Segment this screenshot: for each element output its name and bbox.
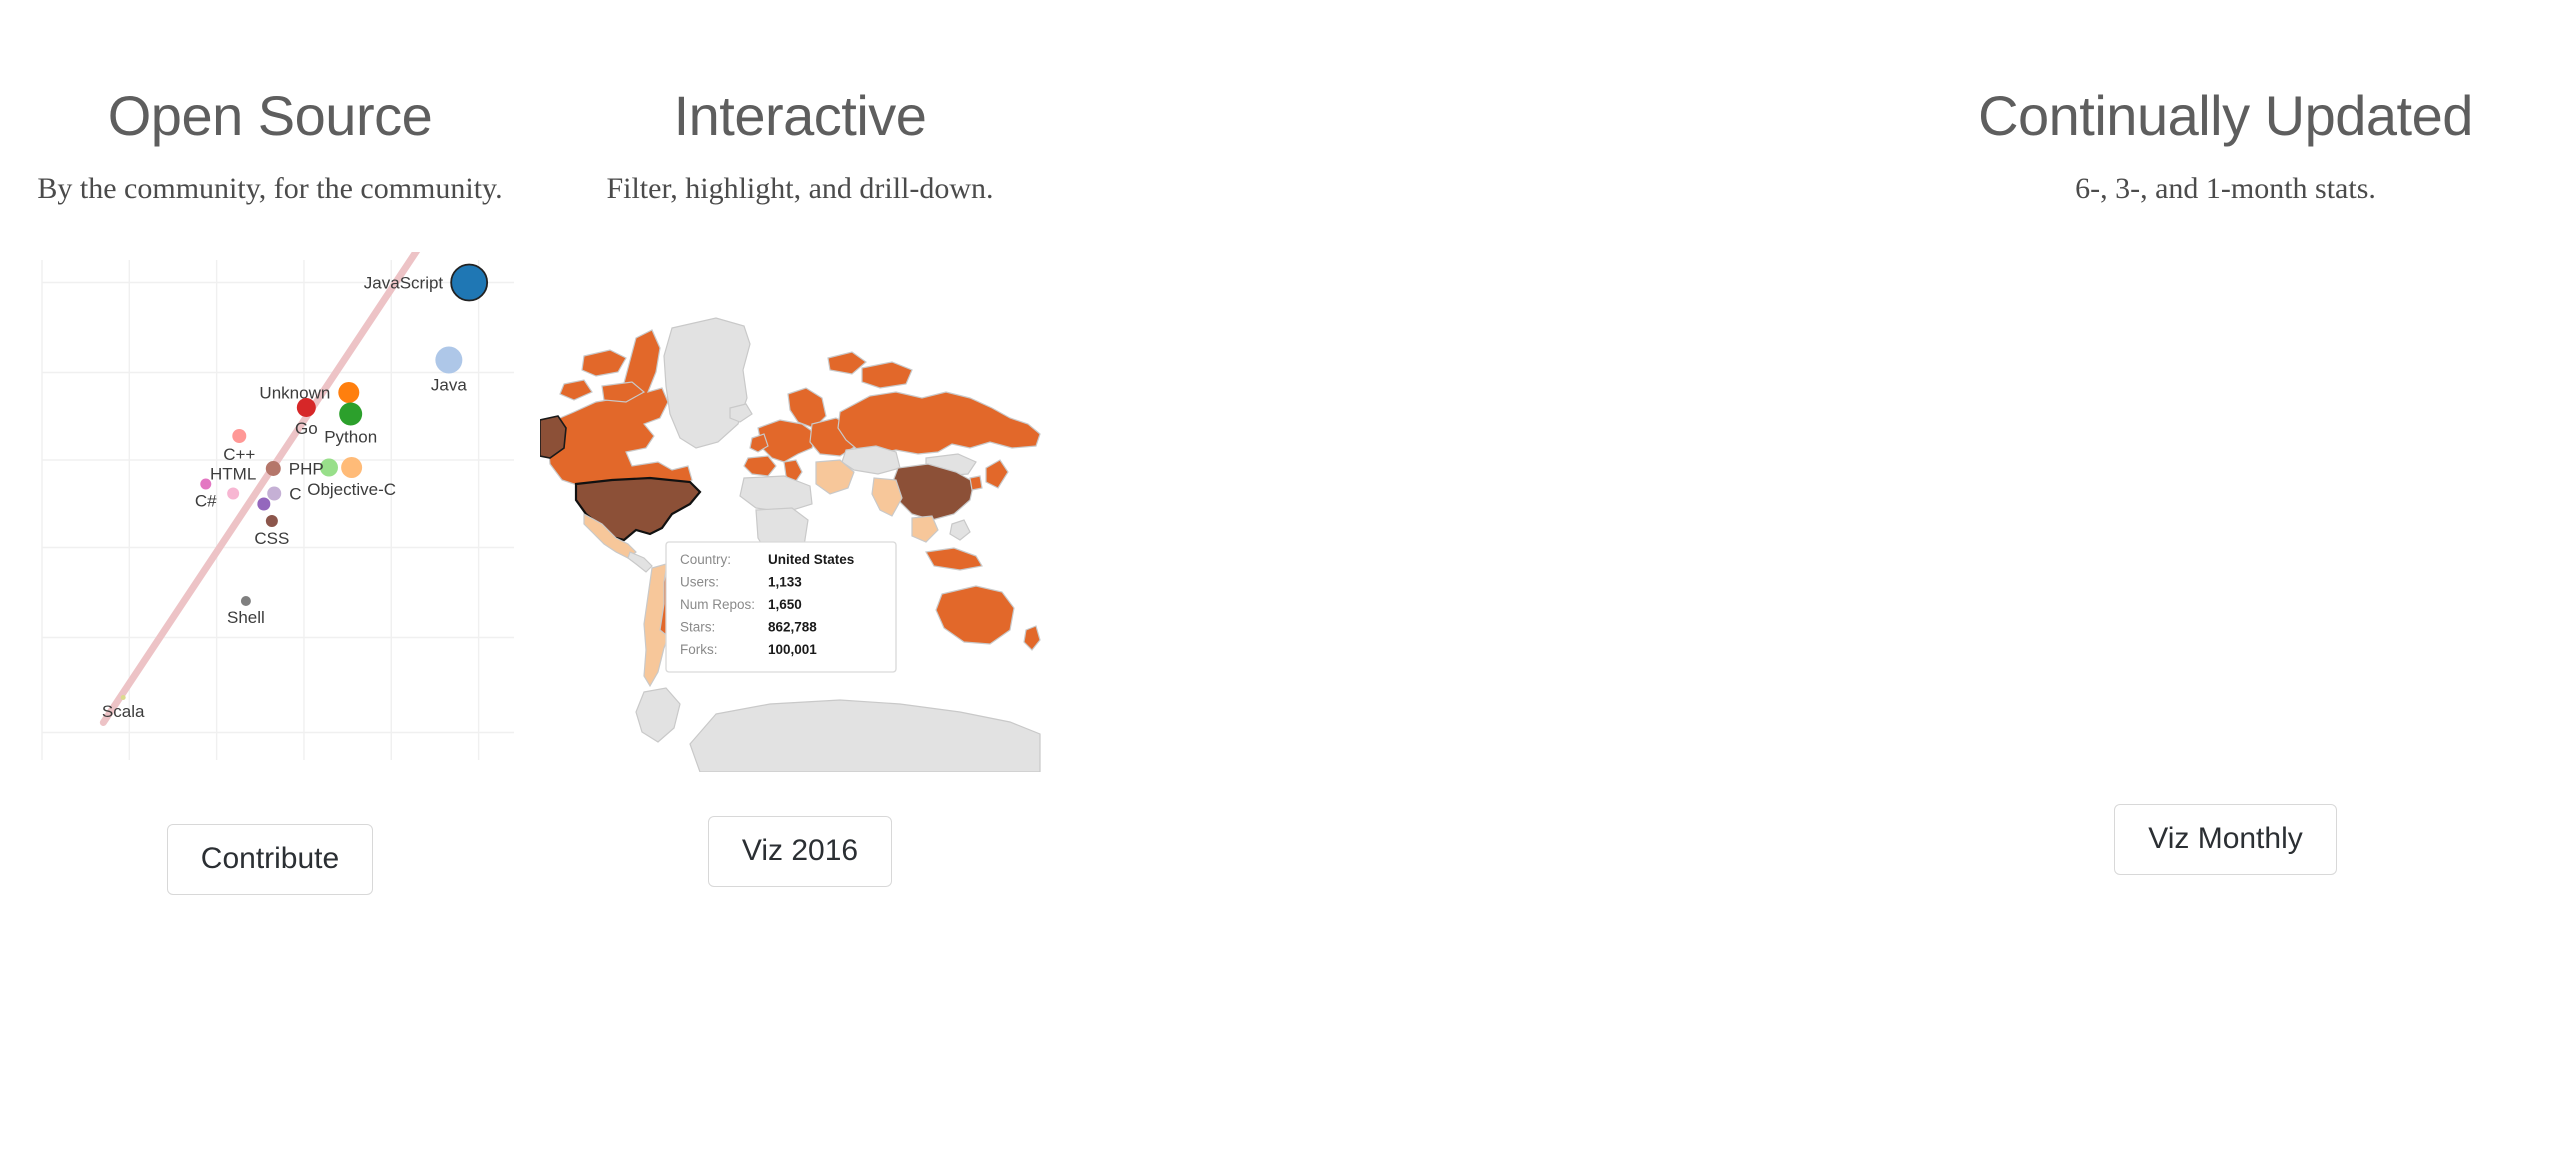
feature-panels: Open Source By the community, for the co… bbox=[0, 0, 2556, 895]
scatter-point-javascript[interactable]: JavaScript bbox=[364, 265, 487, 301]
panel-subtitle: Filter, highlight, and drill-down. bbox=[606, 144, 993, 206]
page-root: Open Source By the community, for the co… bbox=[0, 0, 2556, 1160]
tooltip-row-value: 1,133 bbox=[768, 575, 802, 590]
tooltip-row-label: Num Repos: bbox=[680, 597, 755, 612]
point-label: C bbox=[289, 485, 301, 504]
scatter-point-unlabeled-12[interactable] bbox=[257, 498, 270, 511]
bubble[interactable] bbox=[451, 265, 487, 301]
panel-interactive: Interactive Filter, highlight, and drill… bbox=[540, 88, 1060, 895]
contribute-button[interactable]: Contribute bbox=[167, 824, 373, 895]
viz-monthly-button-row: Viz Monthly bbox=[1060, 804, 2556, 875]
point-label: Go bbox=[295, 419, 318, 438]
bubble[interactable] bbox=[257, 498, 270, 511]
panel-continually-updated: Continually Updated 6-, 3-, and 1-month … bbox=[1060, 88, 2556, 895]
point-label: JavaScript bbox=[364, 274, 444, 293]
bubble[interactable] bbox=[338, 382, 359, 403]
point-label: Scala bbox=[102, 702, 145, 721]
bubble-scatter-chart[interactable]: JavaScriptJavaUnknownPythonGoObjective-C… bbox=[0, 252, 540, 782]
bubble[interactable] bbox=[341, 457, 362, 478]
tooltip-row-label: Forks: bbox=[680, 642, 718, 657]
point-label: Unknown bbox=[259, 384, 330, 403]
point-label: HTML bbox=[210, 465, 256, 484]
page-title: Interactive bbox=[674, 88, 927, 144]
point-label: Python bbox=[324, 428, 377, 447]
bubble[interactable] bbox=[266, 515, 278, 527]
country-korea bbox=[970, 476, 982, 490]
point-label: C++ bbox=[223, 445, 255, 464]
bubble[interactable] bbox=[227, 488, 239, 500]
panel-subtitle: 6-, 3-, and 1-month stats. bbox=[2075, 144, 2376, 206]
scatter-point-php[interactable]: PHP bbox=[266, 460, 324, 479]
viz-2016-button-row: Viz 2016 bbox=[540, 816, 1060, 887]
viz-2016-button[interactable]: Viz 2016 bbox=[708, 816, 892, 887]
scatter-point-java[interactable]: Java bbox=[431, 347, 467, 395]
bubble[interactable] bbox=[200, 479, 211, 490]
map-tooltip: Country:United StatesUsers:1,133Num Repo… bbox=[666, 542, 896, 672]
bubble[interactable] bbox=[435, 347, 462, 374]
tooltip-row-value: United States bbox=[768, 552, 854, 567]
point-label: Shell bbox=[227, 608, 265, 627]
world-choropleth-map[interactable]: Country:United StatesUsers:1,133Num Repo… bbox=[540, 252, 1060, 772]
scatter-point-scala[interactable]: Scala bbox=[102, 695, 145, 721]
point-label: C# bbox=[195, 492, 217, 511]
scatter-point-shell[interactable]: Shell bbox=[227, 596, 265, 627]
bubble[interactable] bbox=[339, 403, 362, 426]
point-label: PHP bbox=[289, 460, 324, 479]
tooltip-row-value: 1,650 bbox=[768, 597, 802, 612]
scatter-point-css[interactable]: CSS bbox=[254, 515, 289, 548]
panel-subtitle: By the community, for the community. bbox=[37, 144, 502, 206]
bubble[interactable] bbox=[267, 487, 281, 501]
map-svg: Country:United StatesUsers:1,133Num Repo… bbox=[540, 252, 1060, 772]
scatter-svg: JavaScriptJavaUnknownPythonGoObjective-C… bbox=[0, 252, 540, 782]
point-label: Java bbox=[431, 376, 467, 395]
contribute-button-row: Contribute bbox=[0, 824, 540, 895]
tooltip-row-value: 100,001 bbox=[768, 642, 817, 657]
bubble[interactable] bbox=[266, 461, 281, 476]
scatter-points: JavaScriptJavaUnknownPythonGoObjective-C… bbox=[102, 265, 487, 722]
bubble[interactable] bbox=[241, 596, 251, 606]
page-title: Continually Updated bbox=[1978, 88, 2473, 144]
scatter-point-c-[interactable]: C++ bbox=[223, 429, 255, 464]
scatter-point-python[interactable]: Python bbox=[324, 403, 377, 447]
viz-monthly-button[interactable]: Viz Monthly bbox=[2114, 804, 2337, 875]
tooltip-row-label: Country: bbox=[680, 552, 731, 567]
point-label: Objective-C bbox=[307, 480, 396, 499]
panel-open-source: Open Source By the community, for the co… bbox=[0, 88, 540, 895]
trend-viz-wrap bbox=[1060, 246, 2556, 766]
scatter-viz-wrap: JavaScriptJavaUnknownPythonGoObjective-C… bbox=[0, 252, 540, 782]
scatter-gridlines bbox=[42, 260, 514, 760]
tooltip-row-label: Users: bbox=[680, 575, 719, 590]
map-viz-wrap: Country:United StatesUsers:1,133Num Repo… bbox=[540, 252, 1060, 772]
page-title: Open Source bbox=[108, 88, 432, 144]
point-label: CSS bbox=[254, 529, 289, 548]
bubble[interactable] bbox=[121, 695, 126, 700]
bubble[interactable] bbox=[297, 398, 316, 417]
bubble[interactable] bbox=[232, 429, 246, 443]
tooltip-row-label: Stars: bbox=[680, 620, 715, 635]
scatter-point-c[interactable]: C bbox=[267, 485, 301, 504]
tooltip-row-value: 862,788 bbox=[768, 620, 817, 635]
